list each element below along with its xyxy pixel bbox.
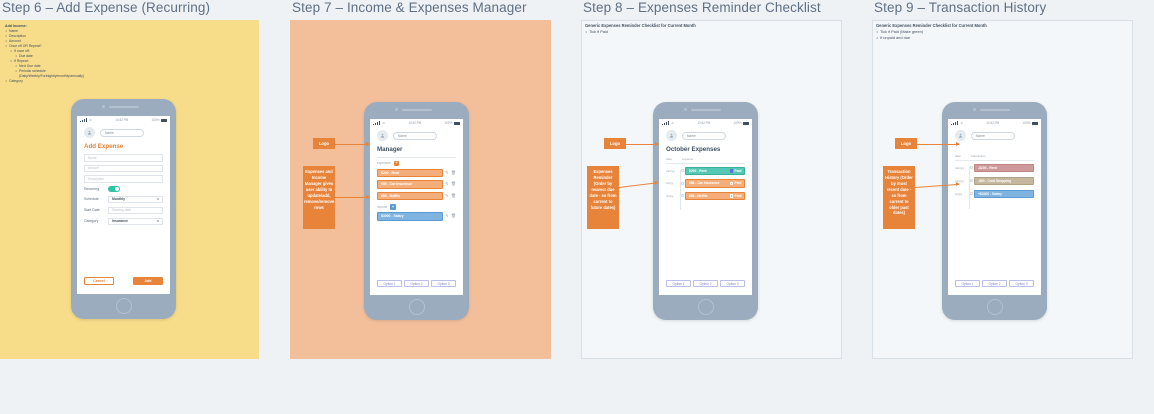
- add-expense-form: Name Amount Description Recurring: [77, 154, 170, 225]
- notes-heading: Add Income:: [5, 24, 95, 28]
- column-date: date: [666, 157, 682, 161]
- battery-icon: [161, 119, 167, 122]
- person-icon: [87, 130, 92, 135]
- column-headers: date transaction: [948, 154, 1041, 158]
- expense-bar: $200 - Rent Paid: [685, 167, 745, 176]
- bottom-tabs: Option 1 Option 2 Option 3: [666, 280, 745, 287]
- notes-checklist: Generic Expenses Reminder Checklist for …: [585, 23, 785, 35]
- person-icon: [669, 133, 674, 138]
- name-input-placeholder: Name: [88, 156, 97, 160]
- amount-input-placeholder: Amount: [88, 166, 99, 170]
- paid-checkbox-group[interactable]: Paid: [730, 181, 742, 185]
- name-pill[interactable]: Name: [682, 132, 726, 140]
- notes-history: Generic Expenses Reminder Checklist for …: [876, 23, 1076, 41]
- amount-input[interactable]: Amount: [84, 165, 163, 173]
- trash-icon[interactable]: 🗑: [451, 214, 456, 218]
- connector-note: [335, 197, 369, 198]
- column-expense: expense: [682, 157, 693, 161]
- speaker-grill: [980, 109, 1010, 111]
- category-select[interactable]: Insurance ⇅: [108, 218, 163, 226]
- callout-note: Expenses and Income Manager gives user a…: [303, 166, 335, 229]
- name-pill[interactable]: Name: [393, 132, 437, 140]
- transaction-bar: -$200 - Rent: [974, 164, 1034, 173]
- notes-add-income: Add Income: Name Description Amount Once…: [5, 24, 95, 84]
- add-expense-button[interactable]: +: [394, 161, 400, 167]
- wifi-icon: ☼: [960, 122, 963, 126]
- camera-dot: [395, 108, 398, 111]
- wifi-icon: ☼: [382, 122, 385, 126]
- expense-bar: $200 - Rent: [377, 169, 443, 178]
- connector-logo: [917, 144, 959, 145]
- divider: [666, 163, 745, 164]
- callout-note: Transaction History (Order by most recen…: [883, 166, 915, 229]
- notes-list: Name Description Amount Once off OR Repe…: [5, 29, 95, 83]
- connector-note: [619, 182, 658, 188]
- battery-percent: 100%: [1022, 121, 1030, 125]
- income-section-header: income +: [370, 204, 463, 210]
- wifi-icon: ☼: [671, 122, 674, 126]
- status-bar: ☼ 10:42 PM 100%: [370, 119, 463, 126]
- tab-option-2[interactable]: Option 2: [693, 280, 718, 287]
- paid-label: Paid: [735, 194, 742, 198]
- income-bar: $3000 - Salary: [377, 212, 443, 221]
- notes-heading: Generic Expenses Reminder Checklist for …: [585, 23, 785, 28]
- callout-logo: Logo: [313, 138, 335, 149]
- column-headers: date expense: [659, 157, 752, 161]
- home-button[interactable]: [409, 299, 425, 315]
- wireframe-board: Step 6 – Add Expense (Recurring) Add Inc…: [0, 0, 1154, 414]
- name-pill-label: Name: [976, 134, 985, 138]
- schedule-row: Schedule Monthly ⇅: [84, 196, 163, 204]
- bottom-tabs: Option 1 Option 2 Option 3: [955, 280, 1034, 287]
- person-icon: [380, 133, 385, 138]
- panel-body-step-9: Generic Expenses Reminder Checklist for …: [872, 20, 1133, 359]
- camera-dot: [684, 108, 687, 111]
- list-item[interactable]: $200 - Rent ✎ 🗑: [370, 169, 463, 178]
- recurring-row: Recurring: [84, 186, 163, 193]
- status-time: 10:42 PM: [986, 121, 999, 125]
- recurring-toggle[interactable]: [108, 186, 120, 193]
- name-input[interactable]: Name: [84, 154, 163, 162]
- expenses-label: expenses: [377, 161, 391, 165]
- description-input[interactable]: Description: [84, 175, 163, 183]
- status-time: 10:42 PM: [408, 121, 421, 125]
- phone-screen: ☼ 10:42 PM 100% Name: [659, 119, 752, 295]
- bottom-tabs: Option 1 Option 2 Option 3: [377, 280, 456, 287]
- avatar[interactable]: [666, 130, 677, 141]
- callout-logo-label: Logo: [901, 141, 911, 146]
- name-pill-label: Name: [105, 131, 114, 135]
- panel-step-9: Step 9 – Transaction History Generic Exp…: [872, 0, 1133, 359]
- callout-note: Expenses Reminder (Order by nearest due …: [587, 166, 619, 229]
- name-pill-label: Name: [398, 134, 407, 138]
- battery-icon: [1032, 122, 1038, 125]
- status-time: 10:42 PM: [115, 118, 128, 122]
- checklist-row[interactable]: nn/yy $50 - Netflix Paid: [659, 192, 752, 201]
- phone-mockup-manager: ☼ 10:42 PM 100% Name: [364, 102, 469, 320]
- row-date: nn/yy: [955, 192, 969, 196]
- tab-option-1[interactable]: Option 1: [666, 280, 691, 287]
- cancel-button[interactable]: Cancel: [84, 277, 114, 285]
- form-actions: Cancel Add: [84, 277, 163, 285]
- battery-percent: 100%: [444, 121, 452, 125]
- expense-text: $50 - Netflix: [689, 194, 708, 198]
- chevron-down-icon: ⇅: [156, 197, 159, 201]
- camera-dot: [102, 105, 105, 108]
- tab-option-1[interactable]: Option 1: [955, 280, 980, 287]
- tab-option-2[interactable]: Option 2: [404, 280, 429, 287]
- add-button[interactable]: Add: [133, 277, 163, 285]
- home-button[interactable]: [116, 298, 132, 314]
- camera-dot: [973, 108, 976, 111]
- screen-title: October Expenses: [666, 146, 752, 153]
- checkbox-icon[interactable]: [730, 169, 734, 173]
- category-value: Insurance: [112, 219, 128, 223]
- divider: [955, 160, 1034, 161]
- speaker-grill: [109, 106, 139, 108]
- category-row: Category Insurance ⇅: [84, 218, 163, 226]
- description-input-placeholder: Description: [88, 177, 104, 181]
- tab-option-3[interactable]: Option 3: [431, 280, 456, 287]
- paid-label: Paid: [735, 181, 742, 185]
- panel-title-step-7: Step 7 – Income & Expenses Manager: [292, 0, 551, 15]
- person-icon: [958, 133, 963, 138]
- history-row[interactable]: mm/yy -$80 - Card Shopping: [948, 177, 1041, 186]
- connector-logo: [335, 144, 369, 145]
- name-pill-label: Name: [687, 134, 696, 138]
- schedule-value: Monthly: [112, 197, 125, 201]
- list-item[interactable]: $50 - Netflix ✎ 🗑: [370, 192, 463, 201]
- signal-icon: ☼: [80, 118, 92, 122]
- signal-icon: ☼: [662, 121, 674, 125]
- panel-step-7: Step 7 – Income & Expenses Manager Logo …: [290, 0, 551, 359]
- phone-mockup-checklist: ☼ 10:42 PM 100% Name: [653, 102, 758, 320]
- signal-icon: ☼: [951, 121, 963, 125]
- phone-screen: ☼ 10:42 PM 100% Name: [370, 119, 463, 295]
- expenses-section-header: expenses +: [370, 161, 463, 167]
- callout-logo-label: Logo: [610, 141, 620, 146]
- checkbox-icon[interactable]: [730, 182, 734, 186]
- expense-bar: $80 - Car Insurance Paid: [685, 179, 745, 188]
- status-bar: ☼ 10:42 PM 100%: [77, 116, 170, 123]
- divider: [377, 157, 456, 158]
- avatar[interactable]: [377, 130, 388, 141]
- screen-title: Manager: [377, 146, 463, 153]
- chevron-down-icon: ⇅: [156, 219, 159, 223]
- category-label: Category: [84, 219, 108, 223]
- avatar[interactable]: [84, 127, 95, 138]
- note-item: Category: [5, 79, 95, 84]
- start-date-label: Start Date: [84, 208, 108, 212]
- avatar[interactable]: [955, 130, 966, 141]
- start-date-value: Starting date: [112, 208, 131, 212]
- nav-row: Name: [948, 126, 1041, 141]
- name-pill[interactable]: Name: [971, 132, 1015, 140]
- callout-logo: Logo: [895, 138, 917, 149]
- tab-option-1[interactable]: Option 1: [377, 280, 402, 287]
- add-income-button[interactable]: +: [390, 204, 396, 210]
- schedule-select[interactable]: Monthly ⇅: [108, 196, 163, 204]
- home-button[interactable]: [698, 299, 714, 315]
- speaker-grill: [402, 109, 432, 111]
- tab-option-2[interactable]: Option 2: [982, 280, 1007, 287]
- pencil-icon[interactable]: ✎: [445, 214, 448, 218]
- list-item[interactable]: $3000 - Salary ✎ 🗑: [370, 212, 463, 221]
- panel-body-step-6: Add Income: Name Description Amount Once…: [0, 20, 259, 359]
- callout-note-text: Expenses Reminder (Order by nearest due …: [589, 169, 617, 210]
- column-date: date: [955, 154, 971, 158]
- notes-heading: Generic Expenses Reminder Checklist for …: [876, 23, 1076, 28]
- history-row[interactable]: nn/yy +$3000 - Salary: [948, 190, 1041, 199]
- list-item[interactable]: $80 - Car Insurance ✎ 🗑: [370, 180, 463, 189]
- panel-title-step-9: Step 9 – Transaction History: [874, 0, 1133, 15]
- wifi-icon: ☼: [89, 119, 92, 123]
- history-row[interactable]: mm/yy -$200 - Rent: [948, 164, 1041, 173]
- expense-text: $80 - Car Insurance: [689, 181, 719, 185]
- nav-row: Name: [77, 123, 170, 138]
- trash-icon[interactable]: 🗑: [451, 171, 456, 175]
- battery-percent: 100%: [733, 121, 741, 125]
- panel-body-step-8: Generic Expenses Reminder Checklist for …: [581, 20, 842, 359]
- nav-row: Name: [659, 126, 752, 141]
- income-label: income: [377, 205, 387, 209]
- transaction-bar: -$80 - Card Shopping: [974, 177, 1034, 186]
- schedule-label: Schedule: [84, 197, 108, 201]
- panel-step-8: Step 8 – Expenses Reminder Checklist Gen…: [581, 0, 842, 359]
- notes-list: Tick if Paid (Make green) If unpaid and …: [876, 29, 1076, 41]
- column-transaction: transaction: [971, 154, 986, 158]
- note-item: If unpaid and due: [876, 35, 1076, 41]
- pencil-icon[interactable]: ✎: [445, 194, 448, 198]
- battery-percent: 100%: [151, 118, 159, 122]
- name-pill[interactable]: Name: [100, 129, 144, 137]
- row-date: mm/yy: [955, 166, 969, 170]
- row-date: nn/yy: [666, 181, 680, 185]
- start-date-row: Start Date Starting date: [84, 207, 163, 215]
- speaker-grill: [691, 109, 721, 111]
- expense-bar: $50 - Netflix: [377, 192, 443, 201]
- home-button[interactable]: [987, 299, 1003, 315]
- screen-title: Add Expense: [84, 143, 170, 150]
- note-item: Tick if Paid: [585, 29, 785, 35]
- callout-logo-label: Logo: [319, 141, 329, 146]
- row-date: mm/yy: [666, 169, 680, 173]
- signal-icon: ☼: [373, 121, 385, 125]
- checklist-row[interactable]: mm/yy $200 - Rent Paid: [659, 167, 752, 176]
- battery-icon: [743, 122, 749, 125]
- pencil-icon[interactable]: ✎: [445, 171, 448, 175]
- trash-icon[interactable]: 🗑: [451, 182, 456, 186]
- panel-step-6: Step 6 – Add Expense (Recurring) Add Inc…: [0, 0, 259, 359]
- battery-icon: [454, 122, 460, 125]
- status-bar: ☼ 10:42 PM 100%: [659, 119, 752, 126]
- pencil-icon[interactable]: ✎: [445, 182, 448, 186]
- connector-logo: [626, 144, 658, 145]
- phone-mockup-add-expense: ☼ 10:42 PM 100% Name: [71, 99, 176, 319]
- phone-mockup-history: ☼ 10:42 PM 100% Name: [942, 102, 1047, 320]
- checklist-row[interactable]: nn/yy $80 - Car Insurance Paid: [659, 179, 752, 188]
- callout-note-text: Transaction History (Order by most recen…: [885, 169, 913, 216]
- panel-title-step-6: Step 6 – Add Expense (Recurring): [2, 0, 259, 15]
- callout-logo: Logo: [604, 138, 626, 149]
- panel-body-step-7: Logo Expenses and Income Manager gives u…: [290, 20, 551, 359]
- nav-row: Name: [370, 126, 463, 141]
- status-bar: ☼ 10:42 PM 100%: [948, 119, 1041, 126]
- phone-screen: ☼ 10:42 PM 100% Name: [948, 119, 1041, 295]
- timeline-line: [969, 167, 970, 209]
- expense-text: $200 - Rent: [689, 169, 707, 173]
- status-time: 10:42 PM: [697, 121, 710, 125]
- notes-list: Tick if Paid: [585, 29, 785, 35]
- phone-screen: ☼ 10:42 PM 100% Name: [77, 116, 170, 294]
- paid-label: Paid: [735, 169, 742, 173]
- callout-note-text: Expenses and Income Manager gives user a…: [304, 169, 334, 210]
- recurring-label: Recurring: [84, 187, 108, 191]
- checkbox-icon[interactable]: [730, 194, 734, 198]
- transaction-bar: +$3000 - Salary: [974, 190, 1034, 199]
- trash-icon[interactable]: 🗑: [451, 194, 456, 198]
- tab-option-3[interactable]: Option 3: [720, 280, 745, 287]
- panel-title-step-8: Step 8 – Expenses Reminder Checklist: [583, 0, 842, 15]
- expense-bar: $50 - Netflix Paid: [685, 192, 745, 201]
- paid-checkbox-group[interactable]: Paid: [730, 169, 742, 173]
- row-date: nn/yy: [666, 194, 680, 198]
- tab-option-3[interactable]: Option 3: [1009, 280, 1034, 287]
- expense-bar: $80 - Car Insurance: [377, 180, 443, 189]
- start-date-input[interactable]: Starting date: [108, 207, 163, 215]
- paid-checkbox-group[interactable]: Paid: [730, 194, 742, 198]
- timeline-line: [680, 170, 681, 210]
